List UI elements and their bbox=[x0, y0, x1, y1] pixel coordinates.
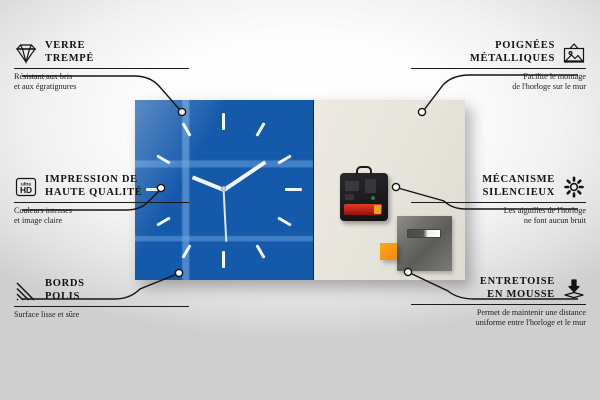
hour-hand bbox=[192, 175, 225, 191]
callout-subtitle-line1: Résistant aux bris bbox=[14, 72, 189, 82]
callout-header: BORDS POLIS bbox=[14, 278, 189, 303]
second-hand bbox=[223, 190, 227, 242]
callout-poignees-metalliques: POIGNÉES MÉTALLIQUES Facilite le montage… bbox=[411, 40, 586, 92]
callout-subtitle-line2: de l'horloge sur le mur bbox=[411, 82, 586, 92]
hour-tick bbox=[277, 154, 291, 164]
hour-tick bbox=[222, 251, 225, 268]
minute-hand bbox=[223, 160, 267, 191]
infographic-canvas: VERRE TREMPÉ Résistant aux bris et aux é… bbox=[0, 0, 600, 400]
hour-tick bbox=[285, 188, 302, 191]
callout-header: MÉCANISME SILENCIEUX bbox=[411, 174, 586, 199]
callout-title-line1: POIGNÉES bbox=[470, 40, 555, 53]
callout-title-line1: IMPRESSION DE bbox=[45, 174, 143, 187]
callout-entretoise-en-mousse: ENTRETOISE EN MOUSSE Permet de maintenir… bbox=[411, 276, 586, 328]
callout-subtitle-line1: Couleurs intenses bbox=[14, 206, 189, 216]
battery bbox=[344, 204, 382, 215]
divider bbox=[14, 202, 189, 203]
callout-verre-trempe: VERRE TREMPÉ Résistant aux bris et aux é… bbox=[14, 40, 189, 92]
divider bbox=[411, 68, 586, 69]
callout-subtitle-line2: et image claire bbox=[14, 216, 189, 226]
callout-subtitle-line2: ne font aucun bruit bbox=[411, 216, 586, 226]
callout-title-line2: MÉTALLIQUES bbox=[470, 53, 555, 66]
hour-tick bbox=[222, 113, 225, 130]
callout-title-line2: SILENCIEUX bbox=[482, 187, 555, 200]
ultra-hd-icon: ultra HD bbox=[14, 176, 38, 198]
divider bbox=[14, 306, 189, 307]
movement-detail bbox=[345, 194, 354, 200]
callout-subtitle-line1: Les aiguilles de l'horloge bbox=[411, 206, 586, 216]
movement-indicator bbox=[371, 196, 375, 200]
ultra-hd-icon-big-label: HD bbox=[20, 185, 32, 195]
clock-center-hub bbox=[221, 186, 226, 191]
hour-tick bbox=[181, 244, 191, 258]
divider bbox=[411, 304, 586, 305]
callout-subtitle-line1: Facilite le montage bbox=[411, 72, 586, 82]
movement-detail bbox=[345, 181, 359, 191]
foam-spacer bbox=[380, 243, 397, 260]
hour-tick bbox=[255, 244, 265, 258]
hour-tick bbox=[277, 216, 291, 226]
callout-title-line1: BORDS bbox=[45, 278, 85, 291]
divider bbox=[411, 202, 586, 203]
callout-bords-polis: BORDS POLIS Surface lisse et sûre bbox=[14, 278, 189, 320]
callout-mecanisme-silencieux: MÉCANISME SILENCIEUX Les aiguilles de l'… bbox=[411, 174, 586, 226]
bracket-slot bbox=[407, 229, 441, 238]
callout-title-line2: TREMPÉ bbox=[45, 53, 94, 66]
callout-subtitle-line2: uniforme entre l'horloge et le mur bbox=[411, 318, 586, 328]
callout-header: ENTRETOISE EN MOUSSE bbox=[411, 276, 586, 301]
wall-mount-picture-icon bbox=[562, 42, 586, 64]
callout-title-line2: POLIS bbox=[45, 291, 85, 304]
callout-header: POIGNÉES MÉTALLIQUES bbox=[411, 40, 586, 65]
callout-title-line1: VERRE bbox=[45, 40, 94, 53]
battery-plus-terminal bbox=[374, 205, 381, 214]
movement-hook bbox=[356, 166, 372, 175]
callout-title-line1: ENTRETOISE bbox=[480, 276, 555, 289]
gear-icon bbox=[562, 176, 586, 198]
callout-title-line2: EN MOUSSE bbox=[480, 289, 555, 302]
callout-subtitle-line2: et aux égratignures bbox=[14, 82, 189, 92]
callout-title-line2: HAUTE QUALITÉ bbox=[45, 187, 143, 200]
movement-detail bbox=[365, 179, 376, 193]
hour-tick bbox=[156, 154, 170, 164]
divider bbox=[14, 68, 189, 69]
callout-header: VERRE TREMPÉ bbox=[14, 40, 189, 65]
callout-header: ultra HD IMPRESSION DE HAUTE QUALITÉ bbox=[14, 174, 189, 199]
callout-title-line1: MÉCANISME bbox=[482, 174, 555, 187]
hour-tick bbox=[181, 122, 191, 136]
callout-impression-haute-qualite: ultra HD IMPRESSION DE HAUTE QUALITÉ Cou… bbox=[14, 174, 189, 226]
callout-subtitle-line1: Surface lisse et sûre bbox=[14, 310, 189, 320]
foam-spacer-arrow-icon bbox=[562, 278, 586, 300]
hour-tick bbox=[255, 122, 265, 136]
callout-subtitle-line1: Permet de maintenir une distance bbox=[411, 308, 586, 318]
polished-edges-icon bbox=[14, 280, 38, 302]
diamond-icon bbox=[14, 42, 38, 64]
quartz-movement bbox=[340, 173, 388, 221]
